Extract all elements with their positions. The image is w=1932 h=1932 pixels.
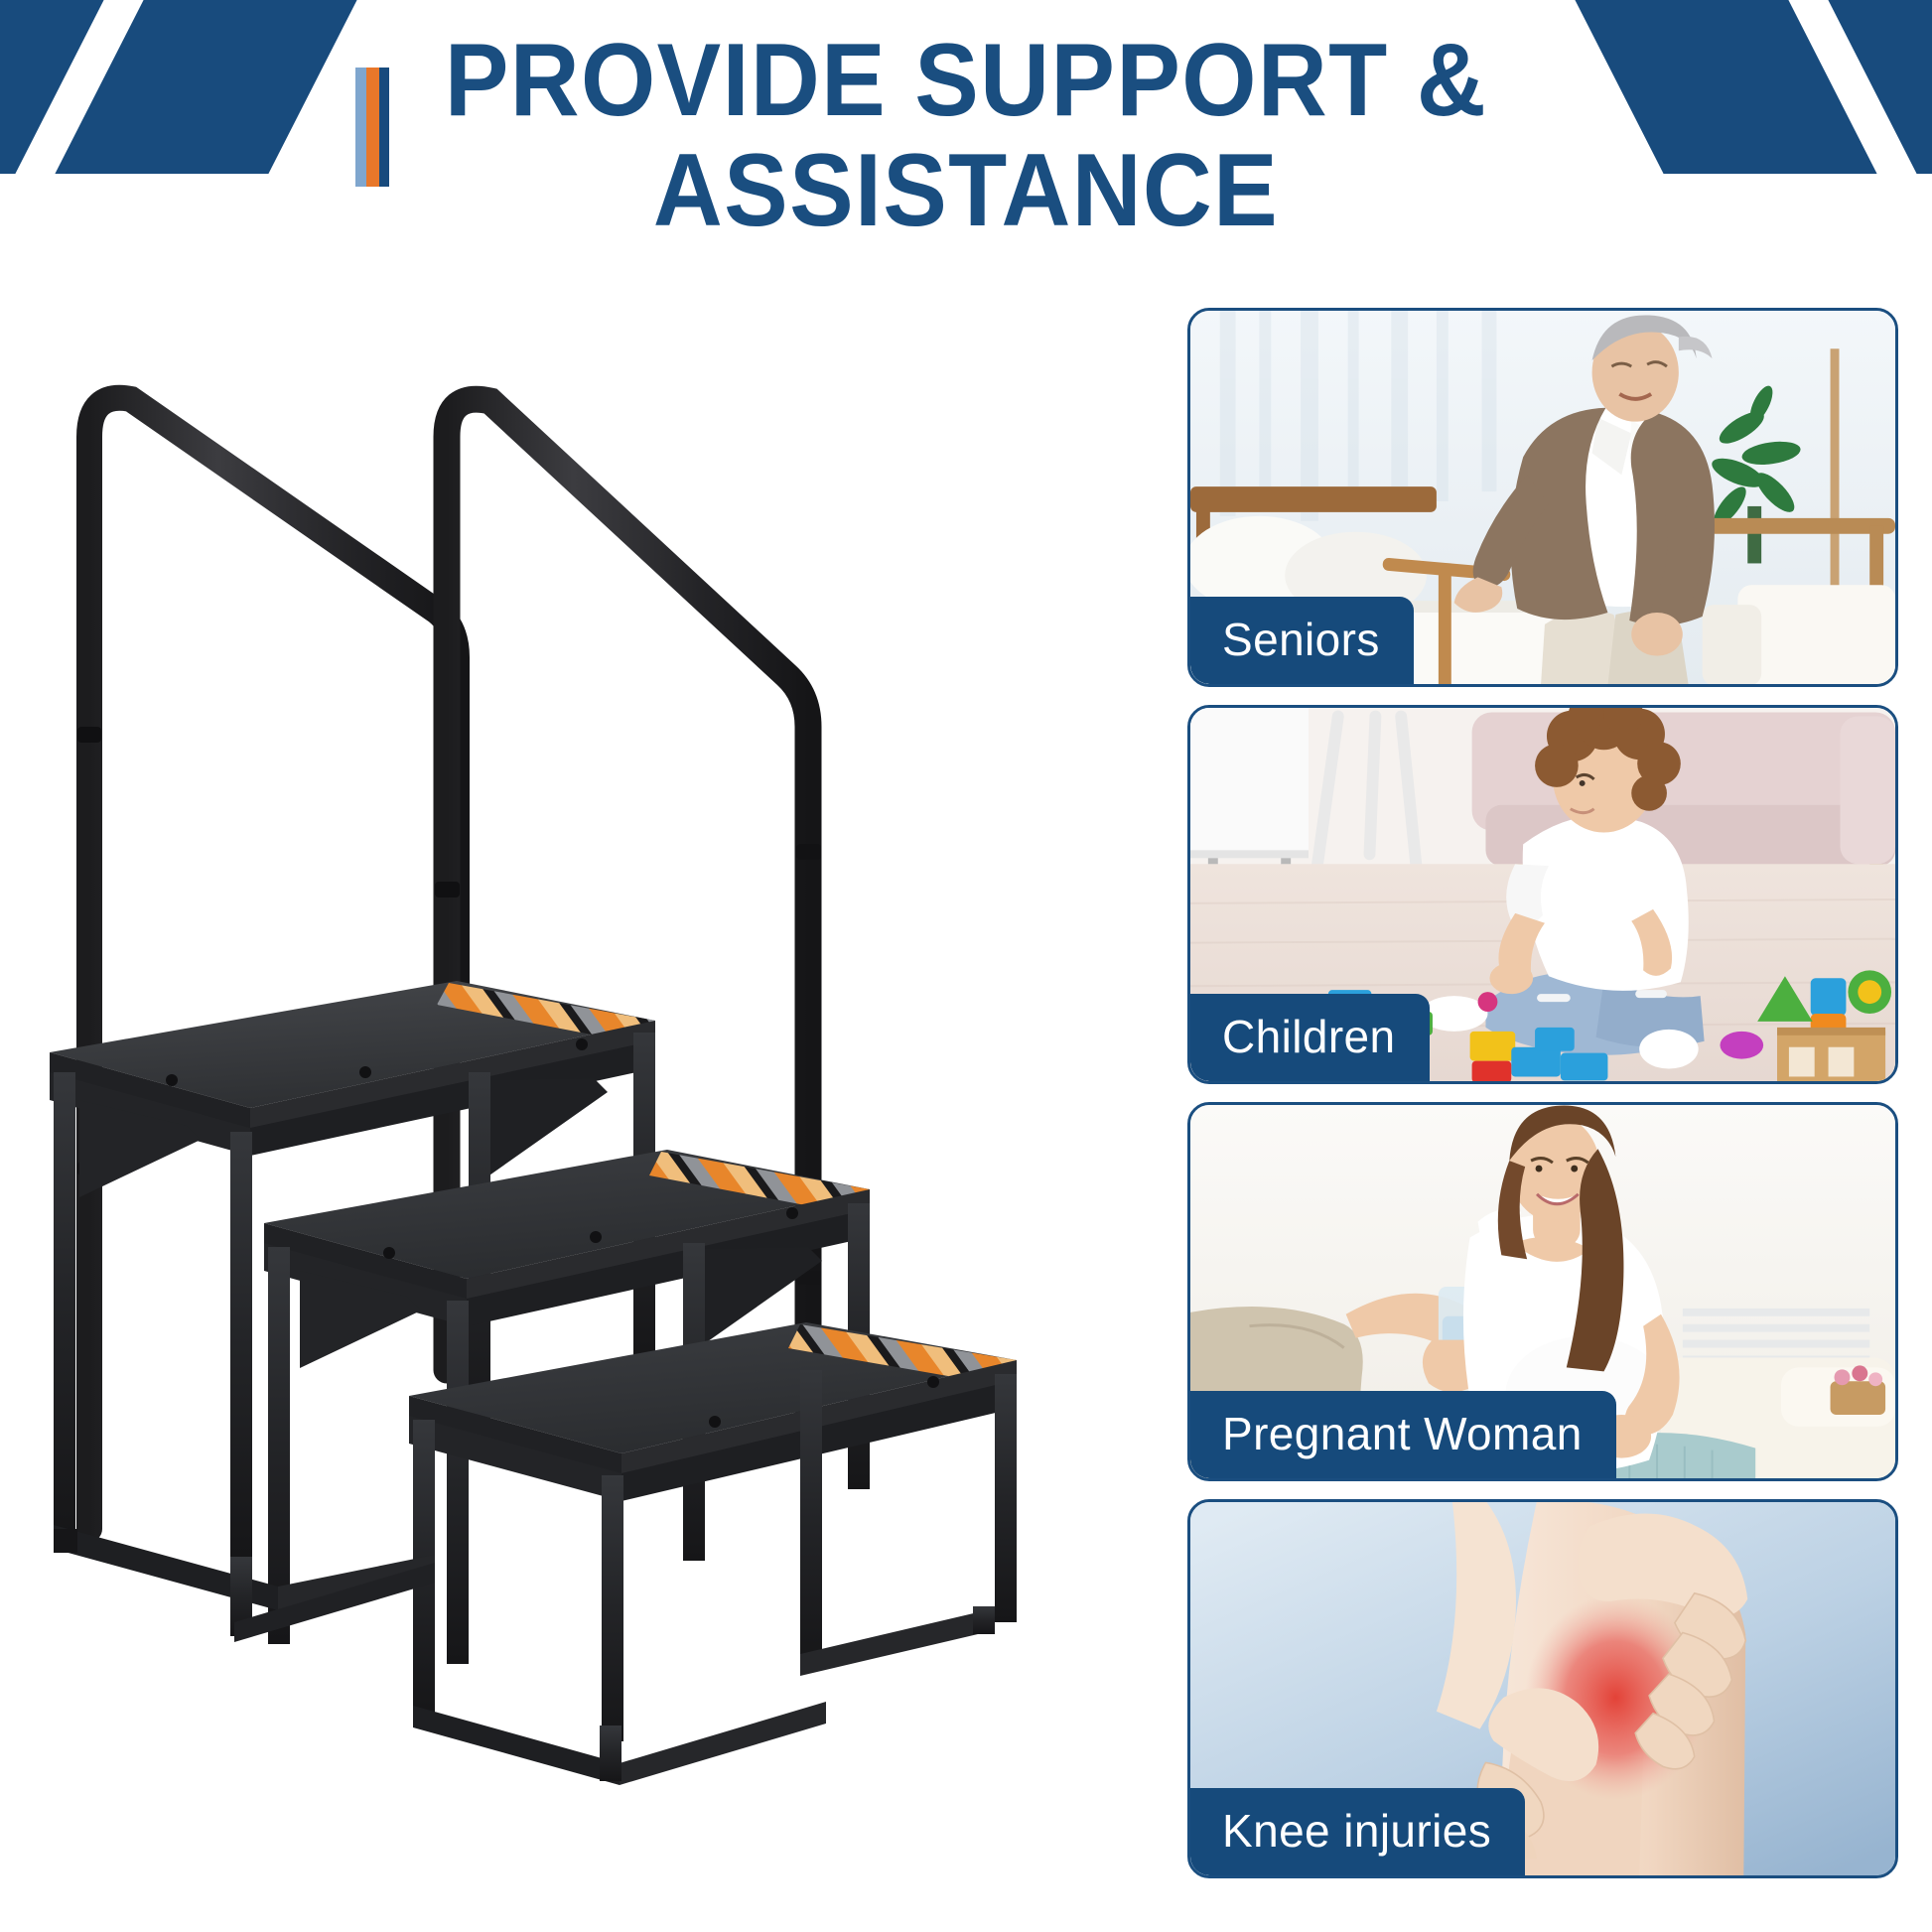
feature-card-list: Seniors	[1187, 308, 1898, 1878]
card-label-children: Children	[1190, 994, 1430, 1081]
card-label-knee-injuries: Knee injuries	[1190, 1788, 1525, 1875]
base-frame	[54, 1525, 995, 1785]
headline-line-1: PROVIDE SUPPORT &	[68, 26, 1864, 136]
marketing-banner: PROVIDE SUPPORT & ASSISTANCE	[0, 0, 1932, 1932]
feature-card-knee-injuries[interactable]: Knee injuries	[1187, 1499, 1898, 1878]
product-image-step-stool	[20, 377, 1142, 1926]
feature-card-seniors[interactable]: Seniors	[1187, 308, 1898, 687]
feature-card-children[interactable]: Children	[1187, 705, 1898, 1084]
headline-line-2: ASSISTANCE	[68, 136, 1864, 246]
feature-card-pregnant-woman[interactable]: Pregnant Woman	[1187, 1102, 1898, 1481]
handrail-rear	[77, 398, 457, 1529]
page-title: PROVIDE SUPPORT & ASSISTANCE	[0, 26, 1932, 247]
card-label-seniors: Seniors	[1190, 597, 1414, 684]
card-label-pregnant-woman: Pregnant Woman	[1190, 1391, 1616, 1478]
step-bottom	[409, 1322, 1017, 1741]
